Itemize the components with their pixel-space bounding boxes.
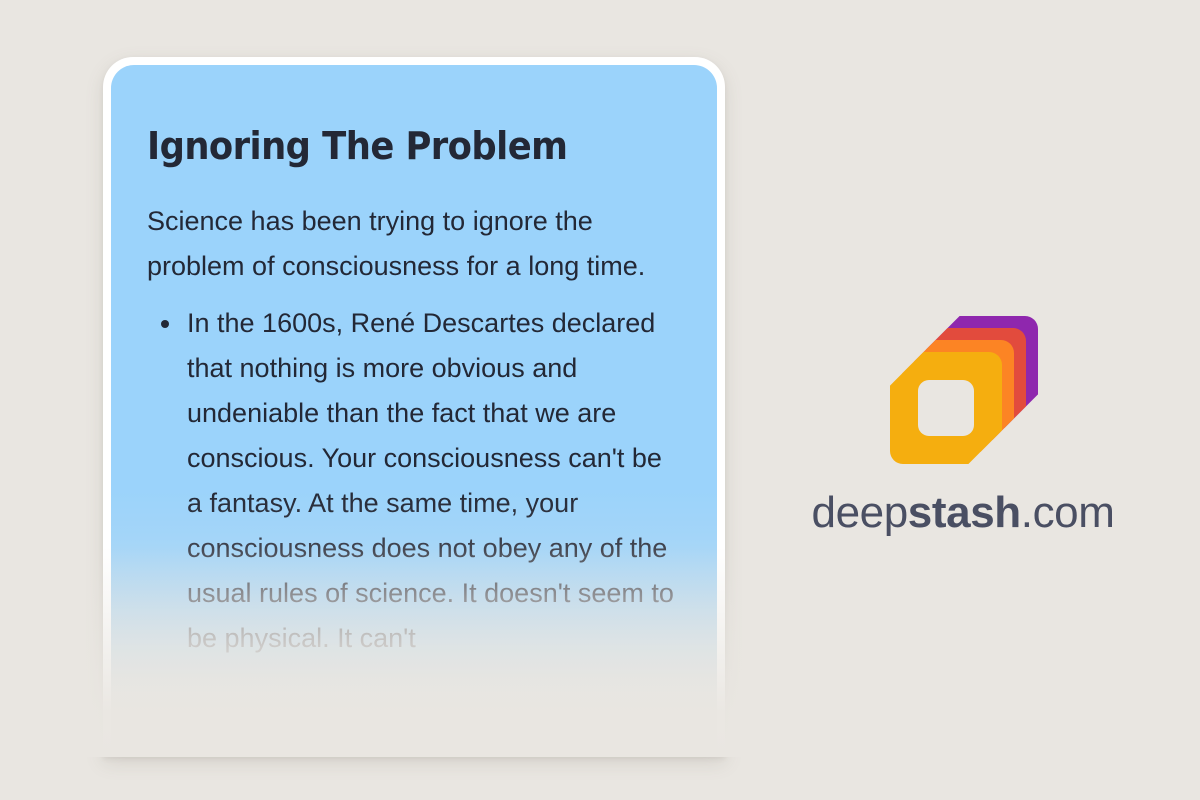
wordmark-stash: stash — [908, 488, 1021, 537]
wordmark-deep: deep — [812, 488, 908, 537]
wordmark-domain: .com — [1021, 488, 1115, 537]
card-content: Ignoring The Problem Science has been tr… — [111, 65, 717, 661]
card-intro-paragraph: Science has been trying to ignore the pr… — [147, 199, 681, 289]
page-title: Ignoring The Problem — [147, 127, 644, 167]
article-card[interactable]: Ignoring The Problem Science has been tr… — [103, 57, 725, 757]
logo-center-cutout-icon — [918, 380, 974, 436]
brand-wordmark: deepstash.com — [760, 488, 1166, 538]
deepstash-stacked-cubes-logo — [888, 314, 1038, 464]
list-item: In the 1600s, René Descartes declared th… — [147, 301, 681, 661]
brand-block: deepstash.com — [760, 300, 1166, 538]
card-body: Ignoring The Problem Science has been tr… — [111, 65, 717, 757]
card-bullet-list: In the 1600s, René Descartes declared th… — [147, 301, 681, 661]
